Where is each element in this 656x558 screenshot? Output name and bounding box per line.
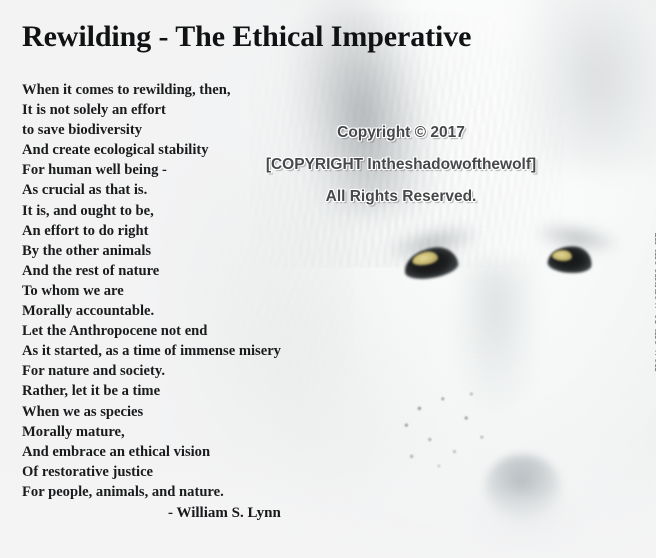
copyright-line-year: Copyright © 2017 bbox=[236, 117, 566, 149]
poem-line: Rather, let it be a time bbox=[22, 381, 352, 401]
poem-line: To whom we are bbox=[22, 281, 352, 301]
poem-line: When we as species bbox=[22, 402, 352, 422]
poem-line: By the other animals bbox=[22, 241, 352, 261]
page-title: Rewilding - The Ethical Imperative bbox=[22, 20, 471, 54]
poster-content: Rewilding - The Ethical Imperative When … bbox=[0, 0, 656, 558]
poster-canvas: Rewilding - The Ethical Imperative When … bbox=[0, 0, 656, 558]
poem-line: Of restorative justice bbox=[22, 462, 352, 482]
vertical-watermark: In the shadow of the wolf bbox=[651, 233, 656, 372]
poem-line: For people, animals, and nature. bbox=[22, 482, 352, 502]
copyright-line-owner: [COPYRIGHT Intheshadowofthewolf] bbox=[236, 149, 566, 181]
poem-attribution: - William S. Lynn bbox=[168, 505, 281, 522]
poem-line: An effort to do right bbox=[22, 221, 352, 241]
poem-line: Morally mature, bbox=[22, 422, 352, 442]
poem-line: And the rest of nature bbox=[22, 261, 352, 281]
poem-line: And embrace an ethical vision bbox=[22, 442, 352, 462]
copyright-watermark: Copyright © 2017 [COPYRIGHT Intheshadowo… bbox=[236, 117, 566, 213]
poem-line: Let the Anthropocene not end bbox=[22, 321, 352, 341]
copyright-line-rights: All Rights Reserved. bbox=[236, 181, 566, 213]
poem-line: When it comes to rewilding, then, bbox=[22, 80, 352, 100]
poem-line: Morally accountable. bbox=[22, 301, 352, 321]
poem-line: As it started, as a time of immense mise… bbox=[22, 341, 352, 361]
poem-line: For nature and society. bbox=[22, 361, 352, 381]
